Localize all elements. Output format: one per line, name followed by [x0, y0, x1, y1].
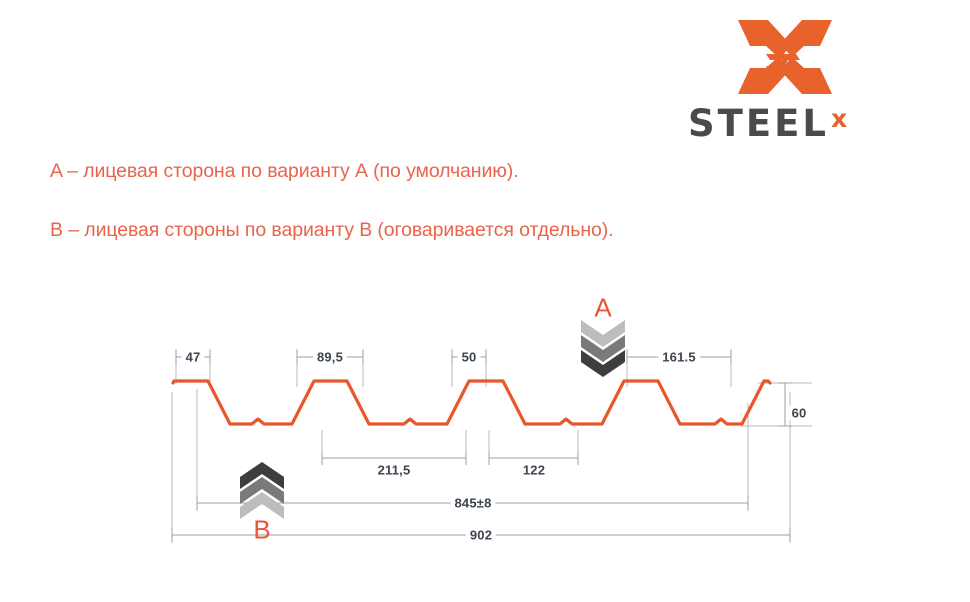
dim-122-label: 122 [519, 463, 549, 478]
dim-211-5-label: 211,5 [374, 463, 415, 478]
marker-b-letter: B [253, 515, 270, 546]
dim-902-label: 902 [466, 528, 496, 543]
marker-b-chevrons [240, 462, 284, 519]
corrugated-profile-path [173, 381, 770, 424]
marker-a-chevrons [581, 320, 625, 377]
dim-89-5-label: 89,5 [313, 350, 347, 365]
dim-161-5-label: 161.5 [658, 350, 700, 365]
dim-47-label: 47 [182, 350, 205, 365]
dim-60-label: 60 [788, 406, 811, 421]
marker-a-letter: A [594, 293, 611, 324]
dimension-tick-marks [172, 350, 792, 542]
profile-technical-drawing: 47 89,5 50 161.5 211,5 122 845±8 902 60 … [0, 0, 970, 597]
dim-50-label: 50 [458, 350, 481, 365]
dim-845-label: 845±8 [450, 496, 495, 511]
